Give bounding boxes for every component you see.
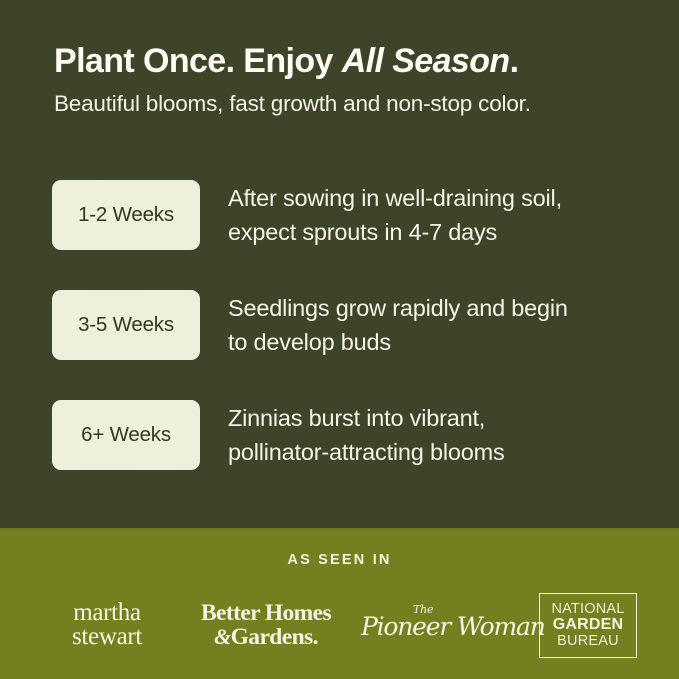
- list-item: 3-5 Weeks Seedlings grow rapidly and beg…: [52, 290, 652, 360]
- headline-text-trailing: .: [510, 42, 519, 80]
- logo-better-homes-and-gardens: Better Homes &Gardens.: [182, 590, 350, 660]
- press-logo-strip: martha stewart Better Homes &Gardens. Th…: [0, 590, 679, 668]
- promotional-infographic: Plant Once. Enjoy All Season. Beautiful …: [0, 0, 679, 679]
- as-seen-in-band: AS SEEN IN martha stewart Better Homes &…: [0, 528, 679, 679]
- martha-stewart-wordmark: martha stewart: [72, 601, 142, 649]
- page-title: Plant Once. Enjoy All Season.: [54, 41, 654, 81]
- band-top-shadow: [0, 528, 679, 530]
- timeline-description-3: Zinnias burst into vibrant, pollinator-a…: [228, 400, 648, 470]
- wordmark-line: stewart: [72, 625, 142, 649]
- page-subtitle: Beautiful blooms, fast growth and non-st…: [54, 90, 654, 118]
- wordmark-line: Better Homes: [201, 602, 331, 625]
- national-garden-bureau-wordmark: NATIONAL GARDEN BUREAU: [539, 593, 636, 658]
- badge-label: 6+ Weeks: [81, 423, 171, 447]
- description-line: Seedlings grow rapidly and begin: [228, 291, 648, 325]
- pioneer-woman-wordmark: The Pioneer Woman: [361, 600, 521, 650]
- list-item: 6+ Weeks Zinnias burst into vibrant, pol…: [52, 400, 652, 470]
- wordmark-line: &Gardens.: [201, 625, 331, 649]
- wordmark-line: GARDEN: [551, 617, 624, 633]
- better-homes-wordmark: Better Homes &Gardens.: [201, 602, 331, 649]
- growth-timeline-list: 1-2 Weeks After sowing in well-draining …: [52, 180, 652, 470]
- as-seen-in-label: AS SEEN IN: [0, 552, 679, 568]
- timeline-badge-3-5-weeks: 3-5 Weeks: [52, 290, 200, 360]
- wordmark-script-text: Pioneer Woman: [361, 612, 521, 641]
- logo-martha-stewart: martha stewart: [34, 590, 180, 660]
- timeline-description-2: Seedlings grow rapidly and begin to deve…: [228, 290, 648, 360]
- wordmark-line: BUREAU: [551, 633, 624, 649]
- description-line: Zinnias burst into vibrant,: [228, 401, 648, 435]
- description-line: pollinator-attracting blooms: [228, 435, 648, 469]
- wordmark-line-text: Gardens.: [231, 624, 318, 650]
- ampersand-glyph: &: [214, 624, 231, 649]
- description-line: After sowing in well-draining soil,: [228, 181, 648, 215]
- timeline-badge-6-plus-weeks: 6+ Weeks: [52, 400, 200, 470]
- headline-text-emphasis: All Season: [342, 42, 510, 80]
- wordmark-line: NATIONAL: [551, 601, 624, 617]
- headline-text-primary: Plant Once. Enjoy: [54, 42, 342, 80]
- timeline-description-1: After sowing in well-draining soil, expe…: [228, 180, 648, 250]
- logo-the-pioneer-woman: The Pioneer Woman: [356, 590, 526, 660]
- logo-national-garden-bureau: NATIONAL GARDEN BUREAU: [532, 590, 644, 660]
- wordmark-line: martha: [72, 601, 142, 625]
- description-line: to develop buds: [228, 325, 648, 359]
- badge-label: 1-2 Weeks: [78, 203, 174, 227]
- list-item: 1-2 Weeks After sowing in well-draining …: [52, 180, 652, 250]
- description-line: expect sprouts in 4-7 days: [228, 215, 648, 249]
- badge-label: 3-5 Weeks: [78, 313, 174, 337]
- timeline-badge-1-2-weeks: 1-2 Weeks: [52, 180, 200, 250]
- header-block: Plant Once. Enjoy All Season. Beautiful …: [54, 41, 654, 118]
